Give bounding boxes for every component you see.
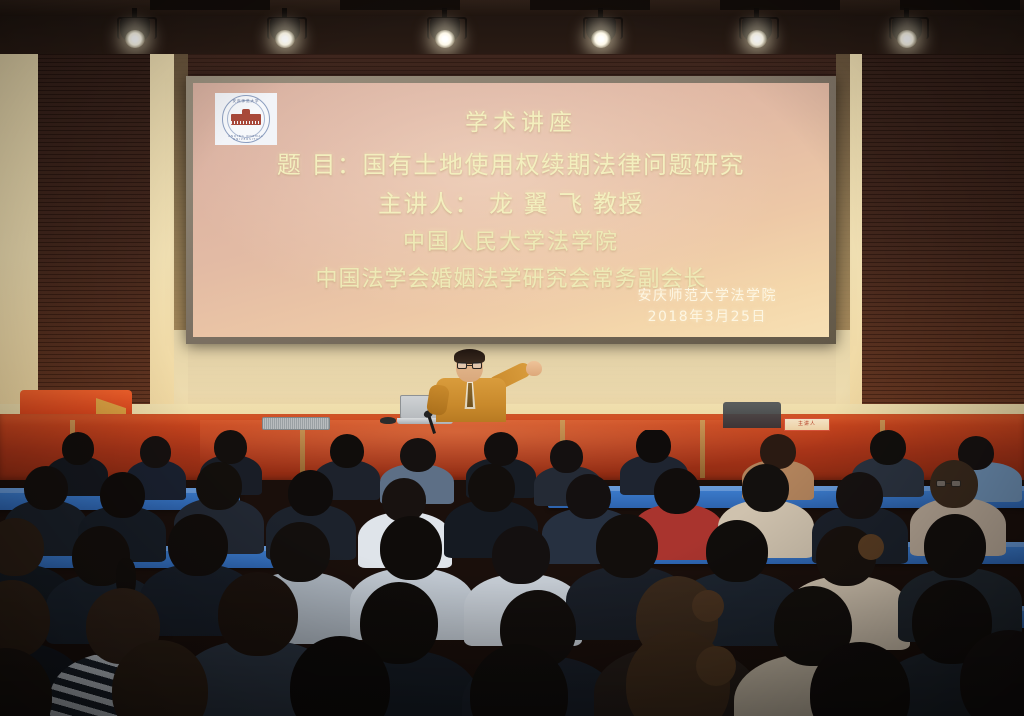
- slide-affiliation: 中国人民大学法学院: [193, 224, 829, 256]
- stage-chair: [723, 402, 781, 428]
- lecture-hall-photo: 安庆师范大学 ANQING NORMAL UNIVERSITY 学术讲座 题 目…: [0, 0, 1024, 716]
- slide-footer: 安庆师范大学法学院 2018年3月25日: [638, 286, 778, 327]
- ceiling: [0, 0, 1024, 58]
- ceiling-spotlight-icon: [890, 8, 924, 48]
- ceiling-spotlight-icon: [428, 8, 462, 48]
- nameplate-text: 主讲人: [785, 419, 829, 430]
- ceiling-spotlight-icon: [584, 8, 618, 48]
- light-track: [720, 0, 840, 10]
- lecturer: [428, 351, 544, 421]
- lecturer-hand: [526, 361, 542, 376]
- slide-topic: 题 目：国有土地使用权续期法律问题研究: [193, 145, 829, 180]
- ceiling-spotlight-icon: [118, 8, 152, 48]
- slide-heading: 学术讲座: [193, 103, 829, 137]
- ceiling-spotlight-icon: [740, 8, 774, 48]
- projection-screen: 安庆师范大学 ANQING NORMAL UNIVERSITY 学术讲座 题 目…: [193, 83, 829, 337]
- glasses-icon: [457, 362, 482, 369]
- light-track: [150, 0, 270, 10]
- slide-footer-date: 2018年3月25日: [638, 307, 778, 327]
- slide-footer-org: 安庆师范大学法学院: [638, 286, 778, 306]
- wall-panel-cream: [150, 54, 174, 454]
- mouse: [380, 417, 396, 424]
- slide-speaker: 主讲人： 龙 翼 飞 教授: [193, 184, 829, 219]
- audience: BLUE: [0, 430, 1024, 716]
- ceiling-spotlight-icon: [268, 8, 302, 48]
- wall-panel-wood-right: [862, 54, 1024, 454]
- speaker-grille-box: [262, 417, 330, 430]
